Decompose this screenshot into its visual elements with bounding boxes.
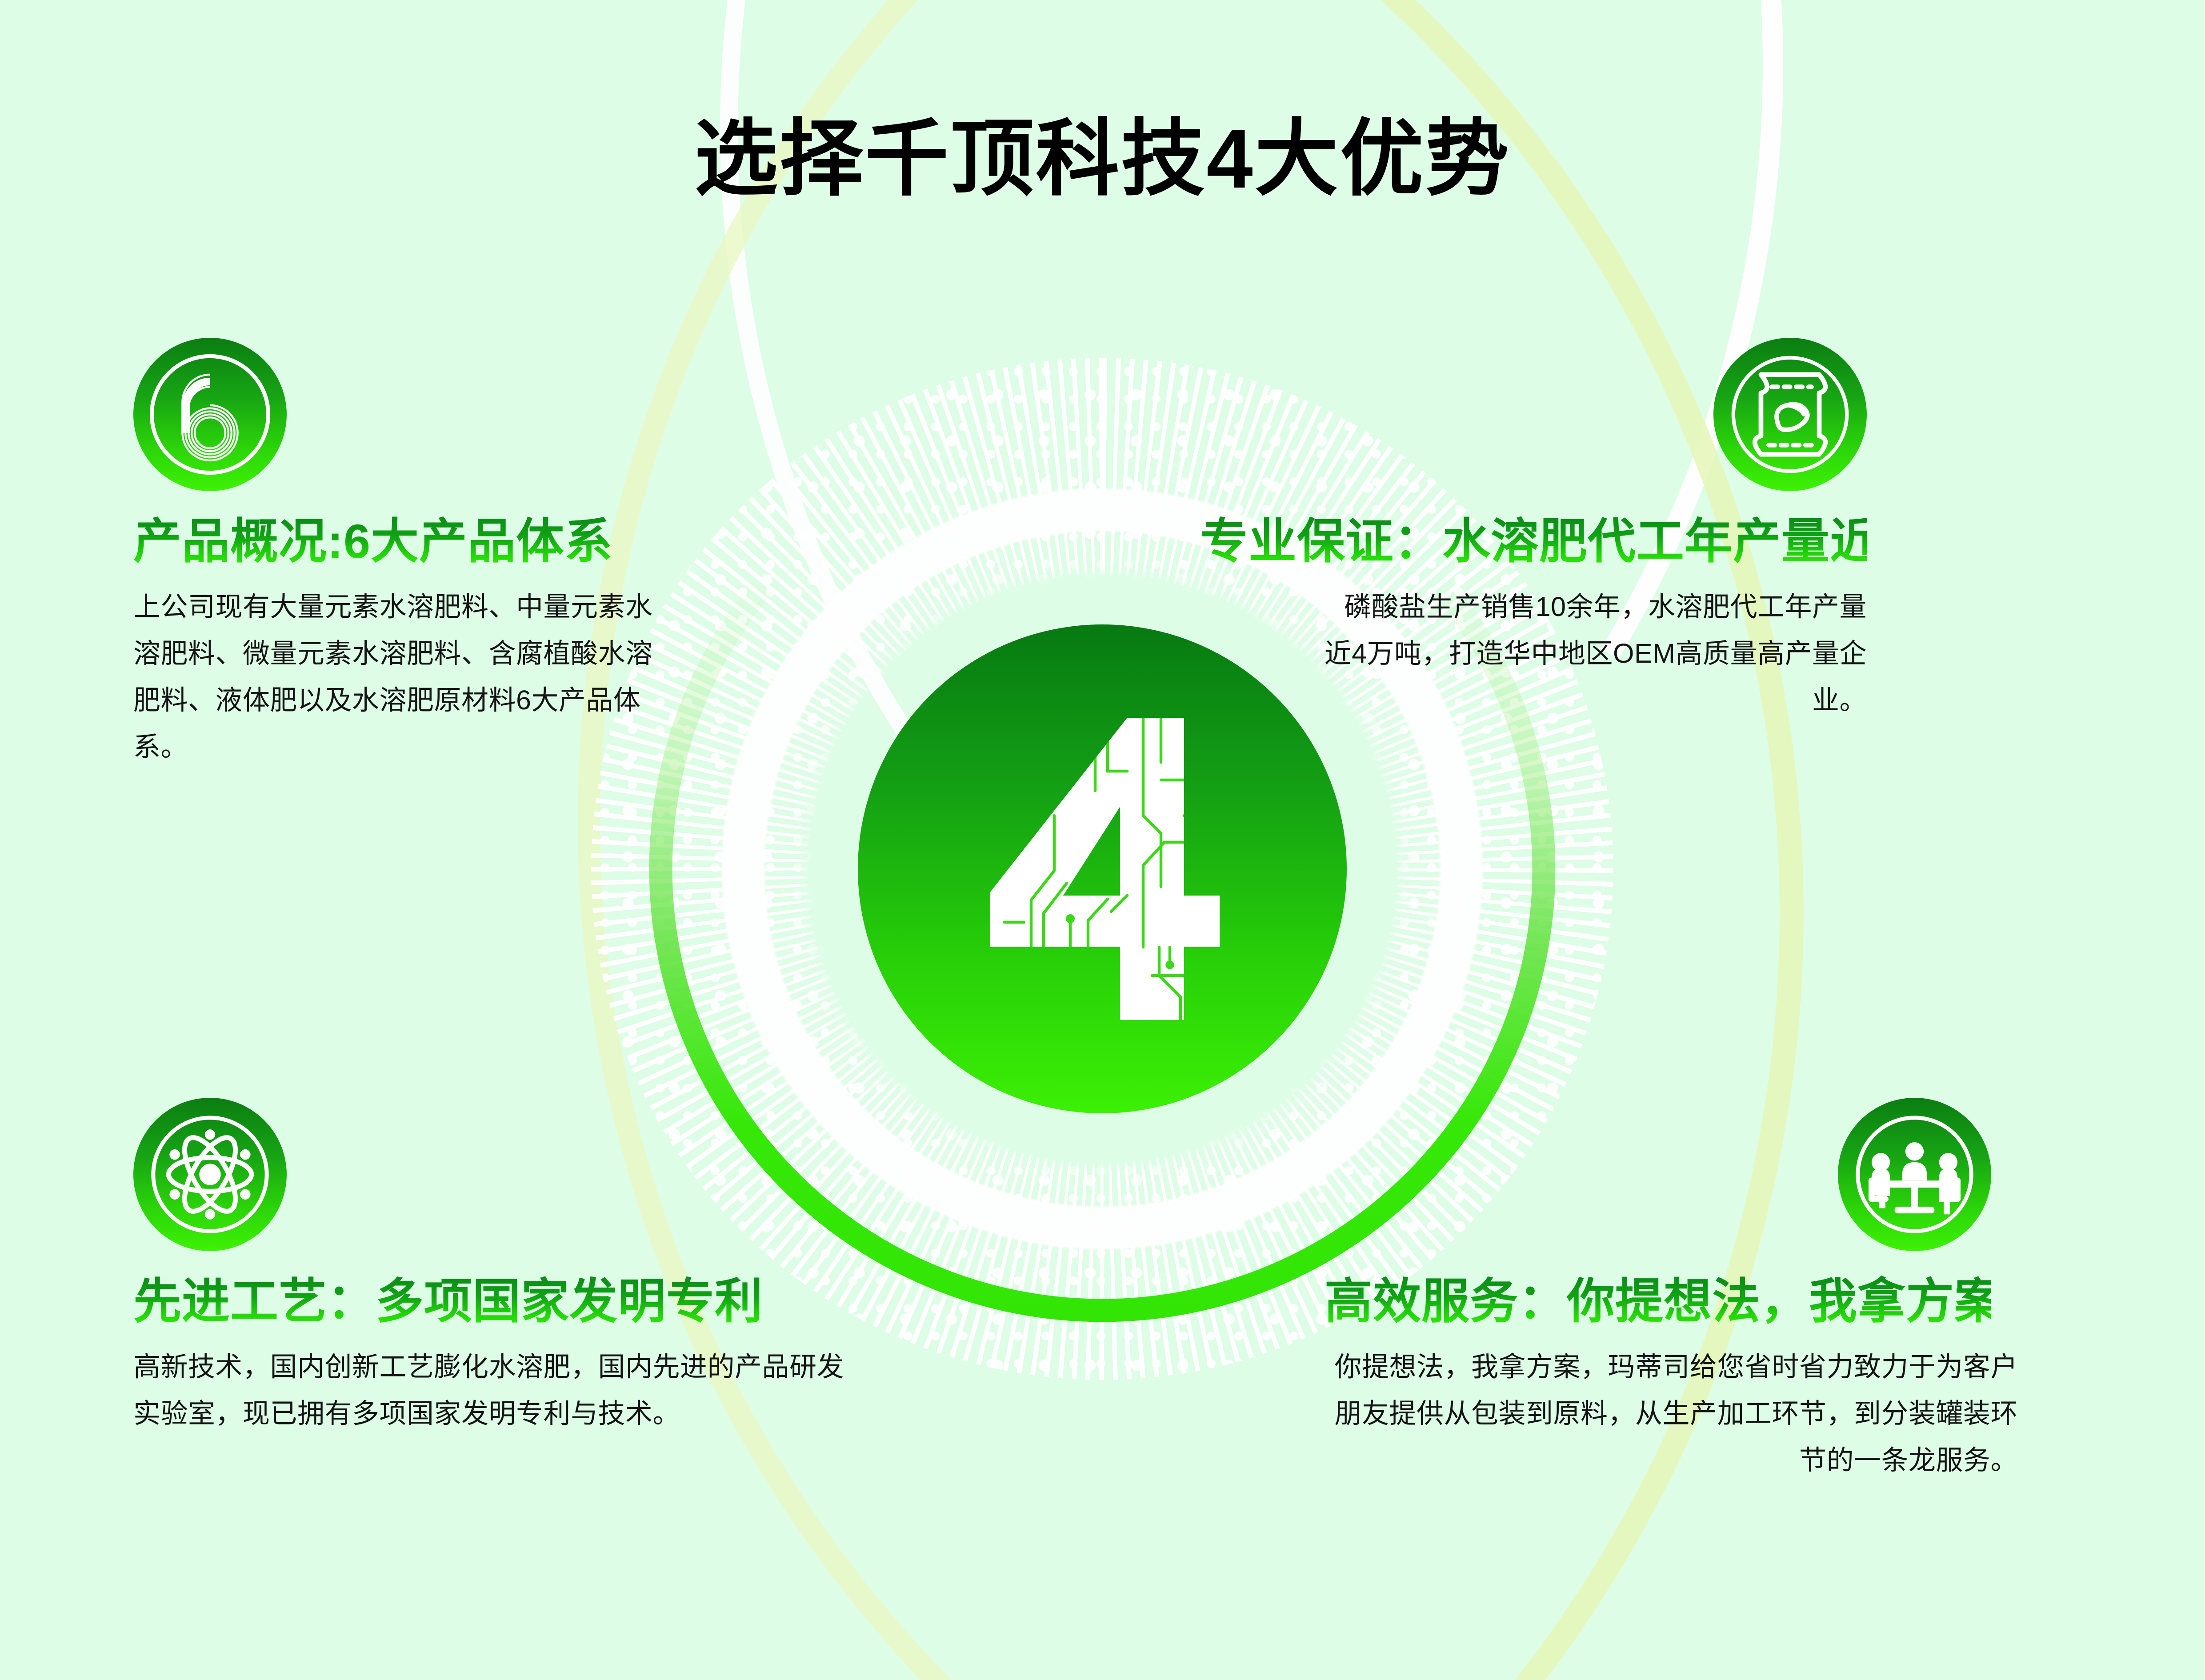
advantage-headline: 先进工艺：多项国家发明专利 [133,1275,800,1328]
advantage-block-bottom-left: 先进工艺：多项国家发明专利 高新技术，国内创新工艺膨化水溶肥，国内先进的产品研发… [133,1098,800,1437]
infographic-poster: 选择千顶科技4大优势 [0,0,2205,1680]
team-meeting-icon [1838,1098,1991,1251]
advantage-body: 上公司现有大量元素水溶肥料、中量元素水溶肥料、微量元素水溶肥料、含腐植酸水溶肥料… [133,584,676,770]
number-six-spiral-icon [133,338,287,491]
fertilizer-bag-icon [1713,338,1867,491]
advantage-body: 高新技术，国内创新工艺膨化水溶肥，国内先进的产品研发实验室，现已拥有多项国家发明… [133,1344,867,1437]
atom-icon [133,1098,287,1251]
advantage-block-top-right: 专业保证：水溶肥代工年产量近4万吨 磷酸盐生产销售10余年，水溶肥代工年产量近4… [1200,338,1867,724]
advantage-block-top-left: 产品概况:6大产品体系 上公司现有大量元素水溶肥料、中量元素水溶肥料、微量元素水… [133,338,800,770]
advantage-body: 你提想法，我拿方案，玛蒂司给您省时省力致力于为客户朋友提供从包装到原料，从生产加… [1325,1344,2018,1484]
advantage-headline: 高效服务：你提想法，我拿方案 [1325,1275,1991,1328]
advantage-body: 磷酸盐生产销售10余年，水溶肥代工年产量近4万吨，打造华中地区OEM高质量高产量… [1320,584,1867,724]
circuit-number-four-icon [978,709,1227,1029]
advantage-headline: 专业保证：水溶肥代工年产量近4万吨 [1200,515,1867,568]
advantage-headline: 产品概况:6大产品体系 [133,515,800,568]
page-title: 选择千顶科技4大优势 [0,91,2205,212]
advantage-block-bottom-right: 高效服务：你提想法，我拿方案 你提想法，我拿方案，玛蒂司给您省时省力致力于为客户… [1325,1098,1991,1484]
